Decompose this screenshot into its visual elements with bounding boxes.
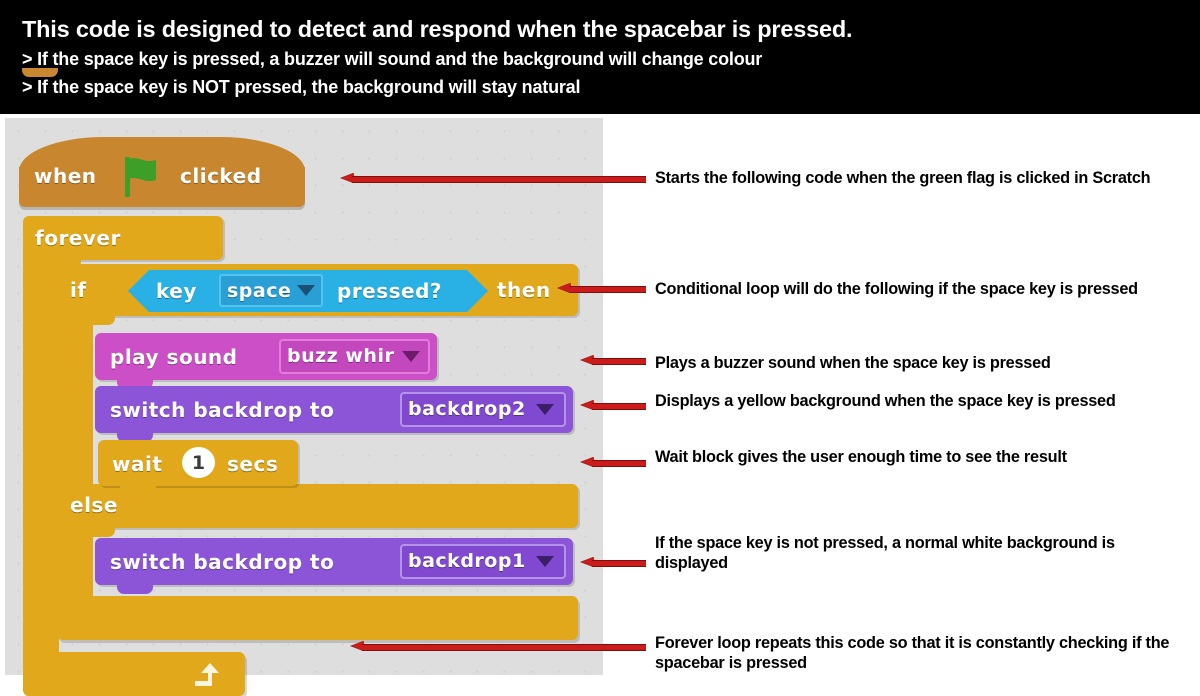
loop-arrow-icon	[191, 662, 221, 690]
arrow-shaft	[592, 460, 646, 467]
wait-value: 1	[182, 452, 215, 474]
annotation-7: Forever loop repeats this code so that i…	[655, 633, 1190, 673]
forever-label: forever	[35, 226, 121, 250]
chevron-down-icon[interactable]	[402, 351, 420, 362]
callout-arrow-2	[558, 283, 646, 293]
if-bottom-bar	[57, 596, 578, 640]
if-label: if	[70, 278, 87, 302]
callout-arrow-6	[581, 557, 646, 567]
banner-title: This code is designed to detect and resp…	[22, 14, 1200, 44]
chevron-down-icon[interactable]	[536, 556, 554, 567]
arrow-shaft	[592, 560, 646, 567]
when-label: when	[34, 164, 97, 188]
callout-arrow-5	[581, 457, 646, 467]
chevron-down-icon[interactable]	[536, 404, 554, 415]
annotation-2: Conditional loop will do the following i…	[655, 279, 1195, 299]
hat-block-notch	[22, 68, 58, 77]
annotation-4: Displays a yellow background when the sp…	[655, 391, 1195, 411]
wait-units-label: secs	[227, 452, 278, 476]
annotation-1: Starts the following code when the green…	[655, 168, 1195, 188]
arrow-shaft	[352, 176, 646, 183]
banner-bullet-1: > If the space key is pressed, a buzzer …	[22, 46, 1200, 72]
annotation-3: Plays a buzzer sound when the space key …	[655, 353, 1195, 373]
callout-arrow-3	[581, 355, 646, 365]
banner-bullet-2: > If the space key is NOT pressed, the b…	[22, 74, 1200, 100]
if-branch-arm	[57, 314, 93, 486]
else-label: else	[70, 493, 118, 517]
pressed-label: pressed?	[337, 279, 442, 303]
arrow-shaft	[362, 644, 646, 651]
forever-left-arm	[23, 258, 59, 656]
arrow-shaft	[592, 403, 646, 410]
clicked-label: clicked	[180, 164, 262, 188]
wait-label: wait	[112, 452, 162, 476]
key-dropdown-value: space	[227, 280, 291, 302]
play-sound-dropdown-value: buzz whir	[287, 345, 394, 367]
callout-arrow-1	[341, 173, 646, 183]
switch-backdrop-else-dropdown-value: backdrop1	[408, 550, 526, 572]
switch-backdrop-if-label: switch backdrop to	[110, 398, 334, 422]
arrow-shaft	[592, 358, 646, 365]
slide-root: This code is designed to detect and resp…	[0, 0, 1200, 675]
green-flag-icon	[123, 155, 163, 199]
annotation-5: Wait block gives the user enough time to…	[655, 447, 1195, 467]
callout-arrow-7	[351, 641, 646, 651]
play-sound-label: play sound	[110, 345, 238, 369]
forever-top-bar: forever	[23, 216, 223, 260]
callout-arrow-4	[581, 400, 646, 410]
then-label: then	[497, 278, 551, 302]
switch-backdrop-else-label: switch backdrop to	[110, 550, 334, 574]
annotation-6: If the space key is not pressed, a norma…	[655, 533, 1160, 573]
chevron-down-icon[interactable]	[297, 285, 315, 296]
switch-backdrop-else-notch	[117, 585, 153, 594]
switch-backdrop-if-dropdown-value: backdrop2	[408, 398, 526, 420]
else-branch-arm	[57, 526, 93, 598]
key-label: key	[156, 279, 197, 303]
arrow-shaft	[569, 286, 646, 293]
wait-notch	[120, 486, 156, 495]
header-banner: This code is designed to detect and resp…	[0, 0, 1200, 114]
